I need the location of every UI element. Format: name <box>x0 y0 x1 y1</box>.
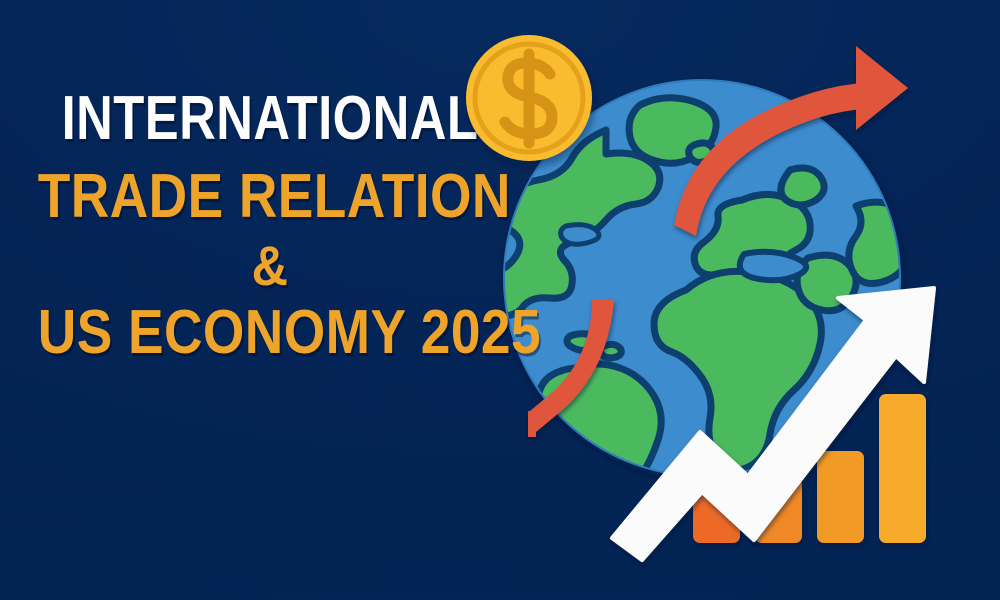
dollar-coin <box>466 35 592 161</box>
poster-artwork-front <box>0 0 1000 600</box>
bar-4 <box>879 394 926 543</box>
bar-3 <box>817 451 864 543</box>
poster-canvas: INTERNATIONAL TRADE RELATION & US ECONOM… <box>0 0 1000 600</box>
